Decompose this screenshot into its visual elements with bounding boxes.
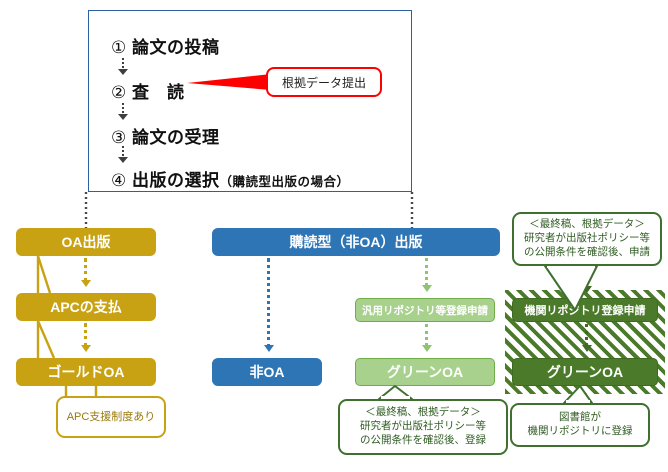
arrow-subscription-to-general-repo-head (422, 285, 432, 292)
arrow-oa-to-apc-head (81, 280, 91, 287)
box-gold-oa-label: ゴールドOA (48, 362, 125, 382)
arrow-inst-repo-to-green-line (585, 324, 588, 346)
arrow-apc-to-gold-line (84, 323, 87, 347)
note-library-registration-line1: 図書館が (559, 411, 601, 423)
step-4-label: 出版の選択 (132, 171, 220, 190)
note-green-oa-condition-line2: 研究者が出版社ポリシー等 (360, 420, 486, 432)
step-connector-2-arrowhead (118, 114, 128, 120)
box-institutional-repository-request[interactable]: 機関リポジトリ登録申請 (512, 298, 658, 322)
box-subscription-publishing-label: 購読型（非OA）出版 (290, 232, 423, 252)
note-apc-support: APC支援制度あり (56, 396, 166, 438)
step-4-sublabel: （購読型出版の場合） (219, 175, 349, 189)
red-callout-tail (185, 72, 271, 92)
note-apc-support-line1: APC支援制度あり (67, 411, 156, 423)
step-1-number: ① (111, 38, 127, 57)
box-oa-publishing[interactable]: OA出版 (16, 228, 156, 256)
arrow-subscription-to-inst-repo-head (582, 286, 592, 293)
diagram-canvas: ① 論文の投稿 ② 査 読 ③ 論文の受理 ④ 出版の選択（購読型出版の場合） … (0, 0, 668, 472)
process-step-4: ④ 出版の選択（購読型出版の場合） (111, 166, 350, 191)
box-green-oa-general[interactable]: グリーンOA (355, 358, 495, 386)
note-library-registration: 図書館が 機関リポジトリに登録 (510, 403, 650, 447)
step-connector-3-arrowhead (118, 157, 128, 163)
note-institutional-repository-condition-line2: 研究者が出版社ポリシー等 (524, 232, 650, 244)
box-gold-oa[interactable]: ゴールドOA (16, 358, 156, 386)
box-green-oa-institutional-label: グリーンOA (547, 362, 623, 382)
arrow-general-repo-to-green-line (425, 324, 428, 346)
process-step-1: ① 論文の投稿 (111, 33, 219, 58)
step-4-number: ④ (111, 171, 127, 190)
box-non-oa[interactable]: 非OA (212, 358, 322, 386)
note-green-oa-condition: ＜最終稿、根拠データ＞ 研究者が出版社ポリシー等 の公開条件を確認後、登録 (338, 399, 508, 455)
arrow-subscription-to-general-repo-line (425, 258, 428, 286)
box-oa-publishing-label: OA出版 (62, 232, 111, 252)
arrow-subscription-to-nonoa-head (264, 345, 274, 352)
box-general-repository-request[interactable]: 汎用リポジトリ等登録申請 (355, 298, 495, 322)
box-subscription-publishing[interactable]: 購読型（非OA）出版 (212, 228, 500, 256)
step-2-number: ② (111, 83, 127, 102)
arrow-oa-to-apc-line (84, 258, 87, 282)
box-general-repository-request-label: 汎用リポジトリ等登録申請 (362, 303, 488, 318)
box-institutional-repository-request-label: 機関リポジトリ登録申請 (525, 302, 646, 318)
box-apc-payment-label: APCの支払 (50, 297, 122, 317)
publication-process-box: ① 論文の投稿 ② 査 読 ③ 論文の受理 ④ 出版の選択（購読型出版の場合） (88, 10, 412, 192)
box-green-oa-general-label: グリーンOA (387, 362, 463, 382)
note-green-oa-condition-line3: の公開条件を確認後、登録 (360, 434, 486, 446)
step-1-label: 論文の投稿 (132, 38, 220, 57)
arrow-inst-repo-to-green-head (582, 345, 592, 352)
note-green-oa-condition-line1: ＜最終稿、根拠データ＞ (365, 406, 481, 418)
note-institutional-repository-condition: ＜最終稿、根拠データ＞ 研究者が出版社ポリシー等 の公開条件を確認後、申請 (512, 212, 662, 266)
step-3-label: 論文の受理 (132, 128, 220, 147)
arrow-subscription-to-inst-repo-line (585, 266, 588, 288)
callout-evidence-data-submission-label: 根拠データ提出 (282, 74, 366, 91)
step-3-number: ③ (111, 128, 127, 147)
step-connector-1-arrowhead (118, 69, 128, 75)
arrow-subscription-to-nonoa-line (267, 258, 270, 348)
note-library-registration-line2: 機関リポジトリに登録 (528, 425, 633, 437)
box-apc-payment[interactable]: APCの支払 (16, 293, 156, 321)
note-institutional-repository-condition-line3: の公開条件を確認後、申請 (524, 246, 650, 258)
box-non-oa-label: 非OA (250, 362, 285, 382)
process-step-3: ③ 論文の受理 (111, 123, 219, 148)
step-2-label: 査 読 (132, 83, 185, 102)
arrow-general-repo-to-green-head (422, 345, 432, 352)
process-step-2: ② 査 読 (111, 78, 184, 103)
arrow-apc-to-gold-head (81, 345, 91, 352)
box-green-oa-institutional[interactable]: グリーンOA (512, 358, 658, 386)
callout-evidence-data-submission: 根拠データ提出 (266, 67, 382, 97)
note-institutional-repository-condition-line1: ＜最終稿、根拠データ＞ (529, 218, 645, 230)
